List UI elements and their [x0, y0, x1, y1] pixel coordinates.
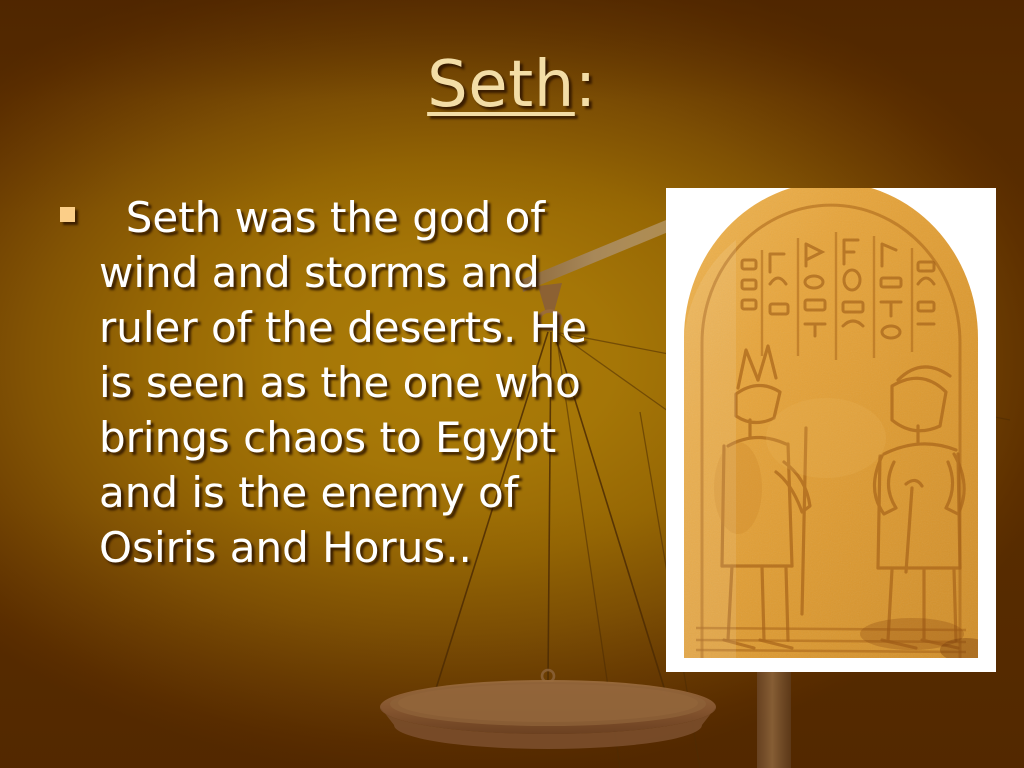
- bullet-item: Seth was the god of wind and storms and …: [60, 190, 620, 575]
- slide-title: Seth:: [0, 52, 1024, 120]
- bullet-square-icon: [60, 207, 75, 222]
- egyptian-stele-image: [666, 188, 996, 672]
- slide-title-main: Seth: [427, 48, 575, 122]
- bullet-item-text: Seth was the god of wind and storms and …: [99, 190, 620, 575]
- slide-title-suffix: :: [575, 48, 597, 122]
- slide-canvas: Seth: Seth was the god of wind and storm…: [0, 0, 1024, 768]
- slide-body: Seth was the god of wind and storms and …: [60, 190, 620, 575]
